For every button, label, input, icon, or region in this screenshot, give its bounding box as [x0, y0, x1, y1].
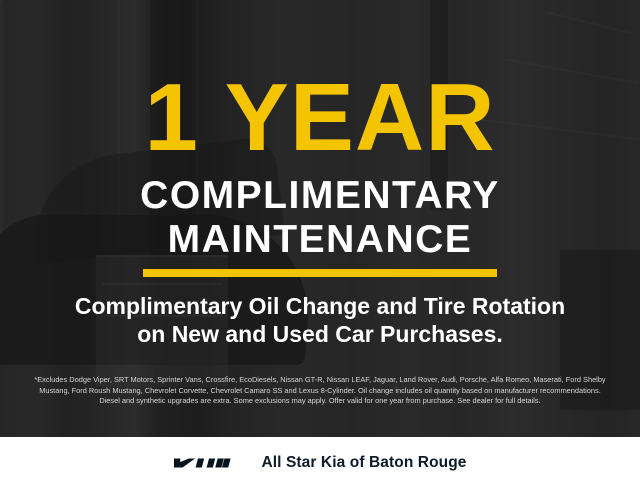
dealer-name: All Star Kia of Baton Rouge	[261, 454, 466, 472]
hero-content: 1 YEAR COMPLIMENTARY MAINTENANCE Complim…	[0, 0, 640, 437]
disclaimer-text: *Excludes Dodge Viper, SRT Motors, Sprin…	[14, 375, 626, 407]
offer-description-line-1: Complimentary Oil Change and Tire Rotati…	[0, 292, 640, 320]
promotional-banner: 1 YEAR COMPLIMENTARY MAINTENANCE Complim…	[0, 0, 640, 488]
footer-bar: All Star Kia of Baton Rouge	[0, 437, 640, 488]
yellow-divider-bar	[143, 269, 497, 277]
offer-description-line-2: on New and Used Car Purchases.	[0, 320, 640, 348]
kia-logo	[173, 453, 245, 473]
disclaimer-line-1: *Excludes Dodge Viper, SRT Motors, Sprin…	[14, 375, 626, 386]
disclaimer-line-2: Mustang, Ford Roush Mustang, Chevrolet C…	[14, 386, 626, 397]
headline-year: 1 YEAR	[0, 70, 640, 166]
disclaimer-line-3: Diesel and synthetic upgrades are extra.…	[14, 396, 626, 407]
headline-maintenance: MAINTENANCE	[0, 220, 640, 260]
headline-complimentary: COMPLIMENTARY	[0, 176, 640, 216]
hero-section: 1 YEAR COMPLIMENTARY MAINTENANCE Complim…	[0, 0, 640, 437]
